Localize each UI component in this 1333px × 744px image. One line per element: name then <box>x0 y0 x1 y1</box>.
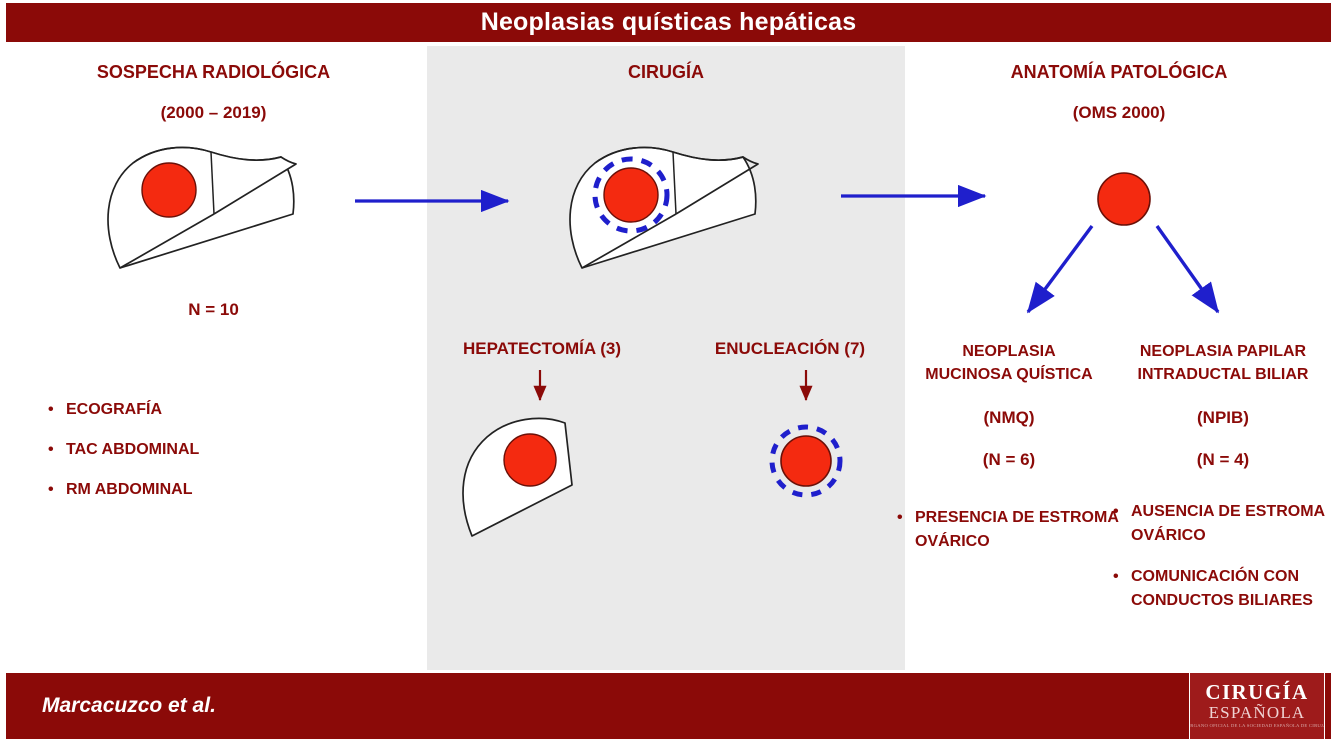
list-item-label: ECOGRAFÍA <box>66 398 162 422</box>
list-item: • ECOGRAFÍA <box>48 398 378 422</box>
footer-bar: Marcacuzco et al. <box>6 673 1331 739</box>
list-item-label: TAC ABDOMINAL <box>66 438 199 462</box>
journal-logo-line2: ESPAÑOLA <box>1190 703 1324 722</box>
list-item: • COMUNICACIÓN CON CONDUCTOS BILIARES <box>1113 565 1328 613</box>
outcome-count-nmq: (N = 6) <box>903 450 1115 470</box>
liver-illustration-radiology <box>108 147 296 268</box>
bullet-icon: • <box>48 438 66 462</box>
right-column-classification: (OMS 2000) <box>905 103 1333 123</box>
outcome-name-nmq-line2: MUCINOSA QUÍSTICA <box>903 363 1115 386</box>
outcome-abbrev-nmq: (NMQ) <box>903 408 1115 428</box>
left-column-period: (2000 – 2019) <box>0 103 427 123</box>
left-column-heading: SOSPECHA RADIOLÓGICA <box>0 62 427 83</box>
list-item-label: RM ABDOMINAL <box>66 478 193 502</box>
middle-column-heading: CIRUGÍA <box>427 62 905 83</box>
journal-logo: CIRUGÍA ESPAÑOLA ÓRGANO OFICIAL DE LA SO… <box>1189 672 1325 740</box>
outcome-name-nmq-line1: NEOPLASIA <box>903 340 1115 363</box>
procedure-label-enucleation: ENUCLEACIÓN (7) <box>685 339 895 359</box>
bullet-icon: • <box>897 506 915 530</box>
outcome-name-npib-line1: NEOPLASIA PAPILAR <box>1118 340 1328 363</box>
list-item: • PRESENCIA DE ESTROMA OVÁRICO <box>897 506 1119 554</box>
flow-arrow-to-npib <box>1157 226 1218 312</box>
outcome-count-npib: (N = 4) <box>1118 450 1328 470</box>
journal-logo-line1: CIRUGÍA <box>1190 682 1324 703</box>
outcome-name-npib: NEOPLASIA PAPILAR INTRADUCTAL BILIAR <box>1118 340 1328 386</box>
list-item: • TAC ABDOMINAL <box>48 438 378 462</box>
tumor-marker <box>142 163 196 217</box>
footer-author: Marcacuzco et al. <box>42 694 216 718</box>
right-column-heading: ANATOMÍA PATOLÓGICA <box>905 62 1333 83</box>
journal-logo-line3: ÓRGANO OFICIAL DE LA SOCIEDAD ESPAÑOLA D… <box>1189 722 1325 730</box>
bullet-icon: • <box>48 478 66 502</box>
list-item-label: COMUNICACIÓN CON CONDUCTOS BILIARES <box>1131 565 1328 613</box>
outcome-name-npib-line2: INTRADUCTAL BILIAR <box>1118 363 1328 386</box>
outcome-name-nmq: NEOPLASIA MUCINOSA QUÍSTICA <box>903 340 1115 386</box>
flow-arrow-to-nmq <box>1028 226 1092 312</box>
list-item: • AUSENCIA DE ESTROMA OVÁRICO <box>1113 500 1328 548</box>
specimen-illustration-pathology <box>1098 173 1150 225</box>
page-title: Neoplasias quísticas hepáticas <box>6 3 1331 42</box>
title-bar: Neoplasias quísticas hepáticas <box>6 3 1331 42</box>
list-item: • RM ABDOMINAL <box>48 478 378 502</box>
slide-canvas: Neoplasias quísticas hepáticas SOSPECHA … <box>0 0 1333 744</box>
left-column-count: N = 10 <box>0 300 427 320</box>
list-item-label: AUSENCIA DE ESTROMA OVÁRICO <box>1131 500 1328 548</box>
bullet-icon: • <box>48 398 66 422</box>
outcome-abbrev-npib: (NPIB) <box>1118 408 1328 428</box>
bullet-icon: • <box>1113 565 1131 589</box>
list-item-label: PRESENCIA DE ESTROMA OVÁRICO <box>915 506 1119 554</box>
procedure-label-hepatectomy: HEPATECTOMÍA (3) <box>427 339 657 359</box>
bullet-icon: • <box>1113 500 1131 524</box>
